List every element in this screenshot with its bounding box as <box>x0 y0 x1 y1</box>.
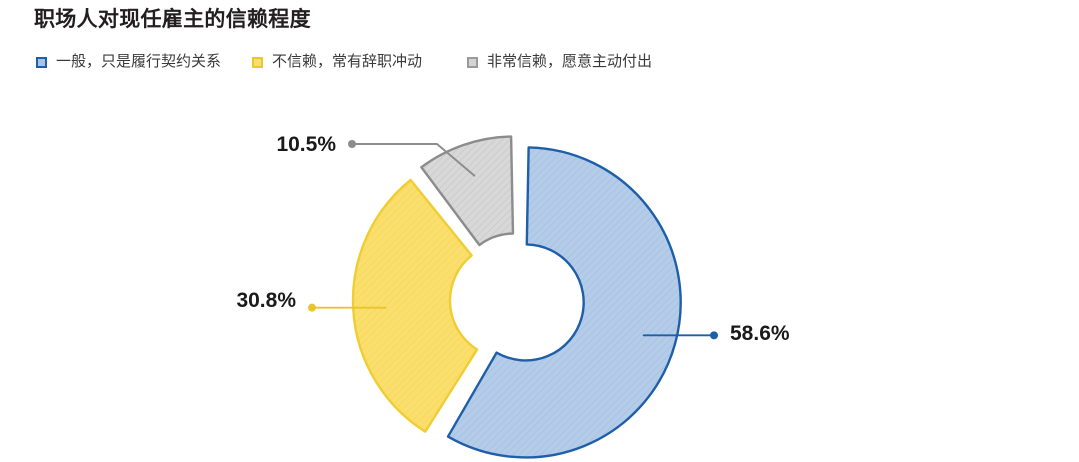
legend-swatch-trust-icon <box>467 57 478 68</box>
callout-dot <box>348 140 356 148</box>
data-label-general: 58.6% <box>730 322 790 345</box>
legend-label-general: 一般，只是履行契约关系 <box>56 54 221 70</box>
legend-label-distrust: 不信赖，常有辞职冲动 <box>272 54 422 70</box>
chart-legend: 一般，只是履行契约关系 不信赖，常有辞职冲动 非常信赖，愿意主动付出 <box>36 54 652 70</box>
legend-item-general[interactable]: 一般，只是履行契约关系 <box>36 54 221 70</box>
callout-dot <box>710 331 718 339</box>
data-label-distrust: 30.8% <box>236 289 296 312</box>
page-title: 职场人对现任雇主的信赖程度 <box>34 3 311 33</box>
legend-item-distrust[interactable]: 不信赖，常有辞职冲动 <box>252 54 422 70</box>
legend-swatch-general-icon <box>36 57 47 68</box>
donut-slices <box>353 137 681 458</box>
donut-chart: 58.6% 30.8% 10.5% <box>0 90 1079 462</box>
callout-dot <box>308 304 316 312</box>
data-label-trust: 10.5% <box>276 133 336 156</box>
legend-item-trust[interactable]: 非常信赖，愿意主动付出 <box>467 54 652 70</box>
legend-swatch-distrust-icon <box>252 57 263 68</box>
chart-page: 职场人对现任雇主的信赖程度 一般，只是履行契约关系 不信赖，常有辞职冲动 非常信… <box>0 0 1079 462</box>
legend-label-trust: 非常信赖，愿意主动付出 <box>487 54 652 70</box>
